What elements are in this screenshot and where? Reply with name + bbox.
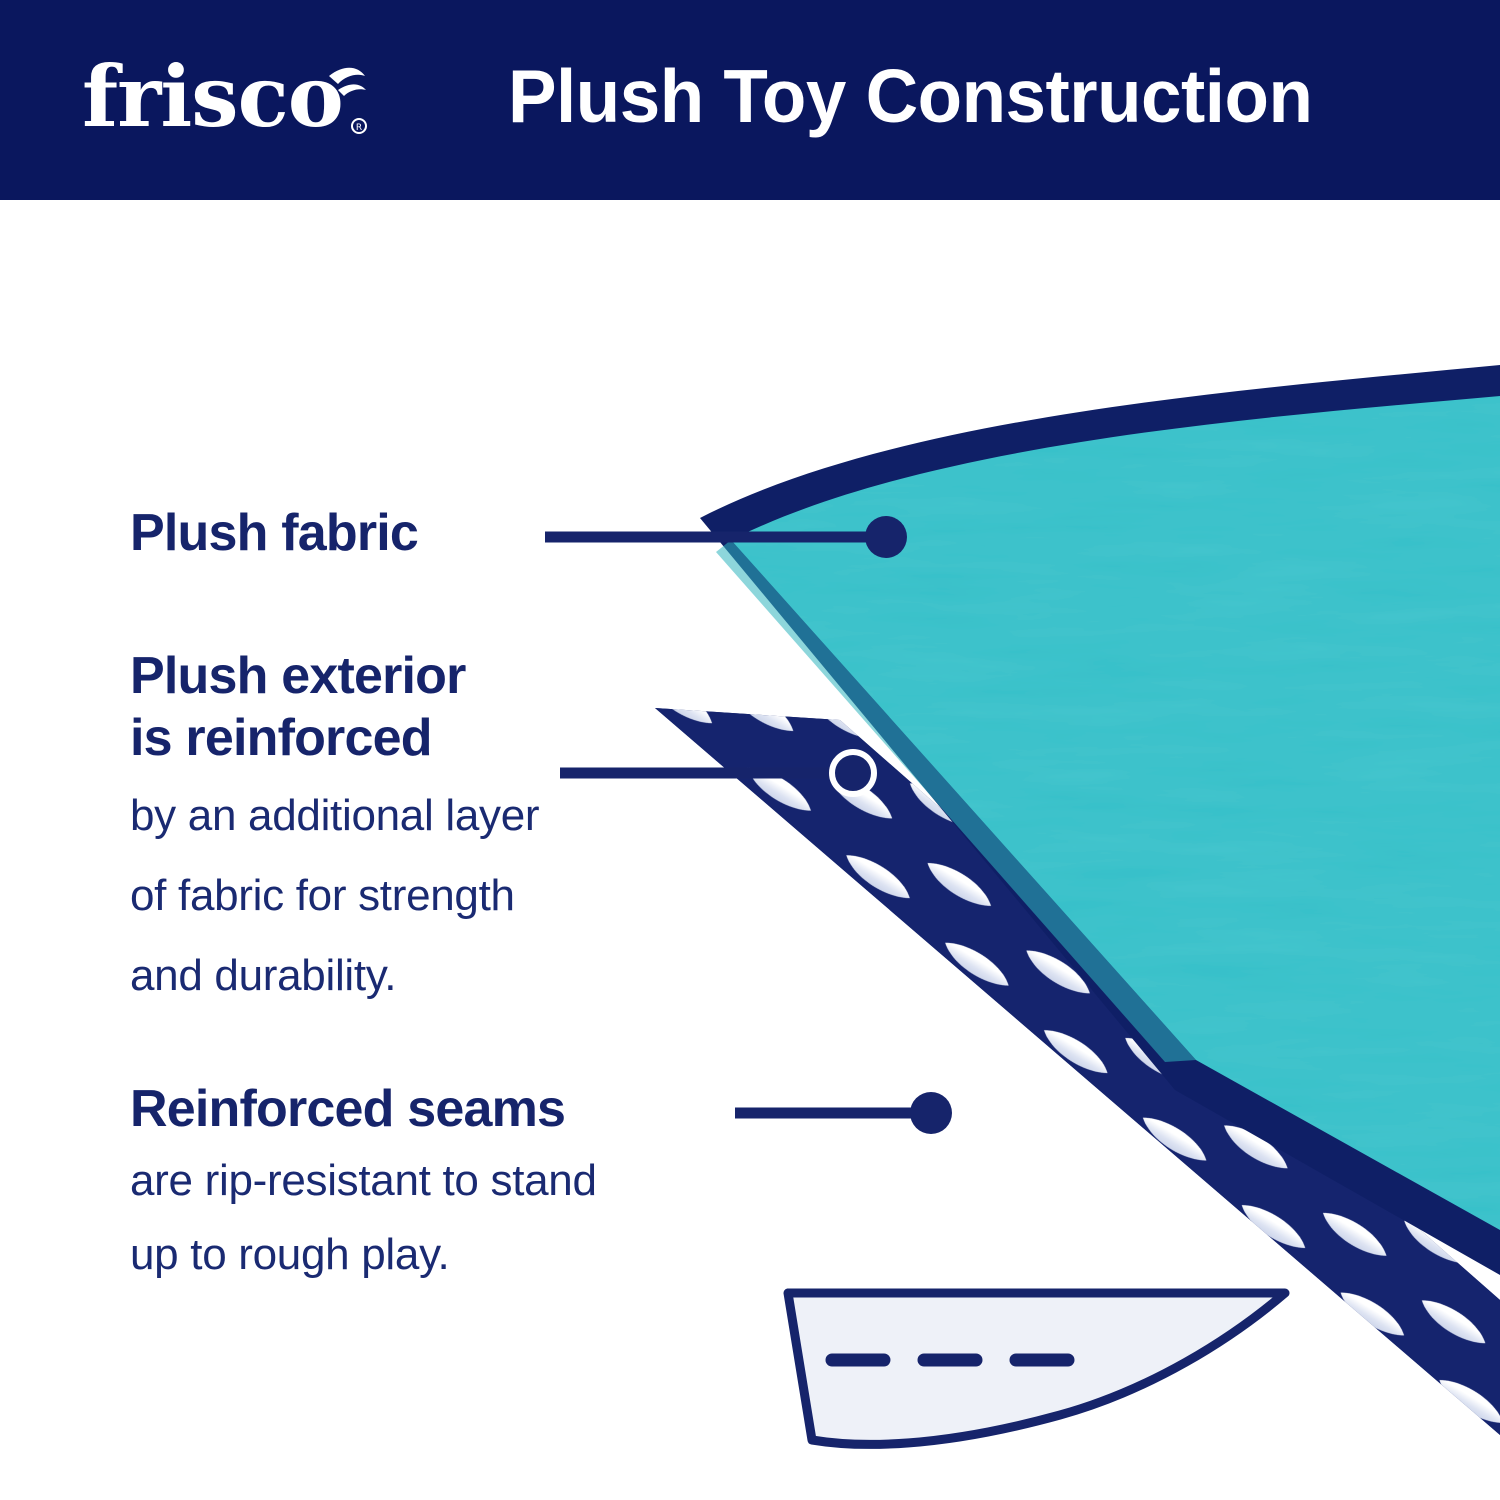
callout-reinforced-seams-heading: Reinforced seams xyxy=(130,1078,597,1140)
svg-text:frisco: frisco xyxy=(82,47,343,146)
callout-plush-exterior-body-line1: by an additional layer xyxy=(130,783,539,849)
leader-reinforced-seams xyxy=(735,1092,952,1134)
header-bar: frisco R Plush Toy Construction xyxy=(0,0,1500,200)
callout-plush-exterior-body-line2: of fabric for strength xyxy=(130,863,539,929)
callout-plush-exterior-heading-line2: is reinforced xyxy=(130,707,539,769)
leader-dot-reinforced-seams xyxy=(910,1092,952,1134)
callout-plush-fabric: Plush fabric xyxy=(130,502,418,564)
callout-plush-exterior-body-line3: and durability. xyxy=(130,943,539,1009)
callout-reinforced-seams: Reinforced seams are rip-resistant to st… xyxy=(130,1078,597,1288)
leader-dot-plush-fabric xyxy=(865,516,907,558)
infographic-page: frisco R Plush Toy Construction xyxy=(0,0,1500,1500)
frisco-logo: frisco R xyxy=(82,46,382,150)
seam-flap-layer xyxy=(788,1293,1285,1444)
svg-text:R: R xyxy=(356,123,362,133)
callout-reinforced-seams-body-line2: up to rough play. xyxy=(130,1222,597,1288)
callout-reinforced-seams-body-line1: are rip-resistant to stand xyxy=(130,1148,597,1214)
callout-plush-exterior: Plush exterior is reinforced by an addit… xyxy=(130,645,539,1009)
callout-plush-exterior-heading-line1: Plush exterior xyxy=(130,645,539,707)
callout-plush-fabric-heading: Plush fabric xyxy=(130,502,418,564)
leader-ring-plush-exterior xyxy=(832,752,874,794)
page-title: Plush Toy Construction xyxy=(508,44,1362,154)
